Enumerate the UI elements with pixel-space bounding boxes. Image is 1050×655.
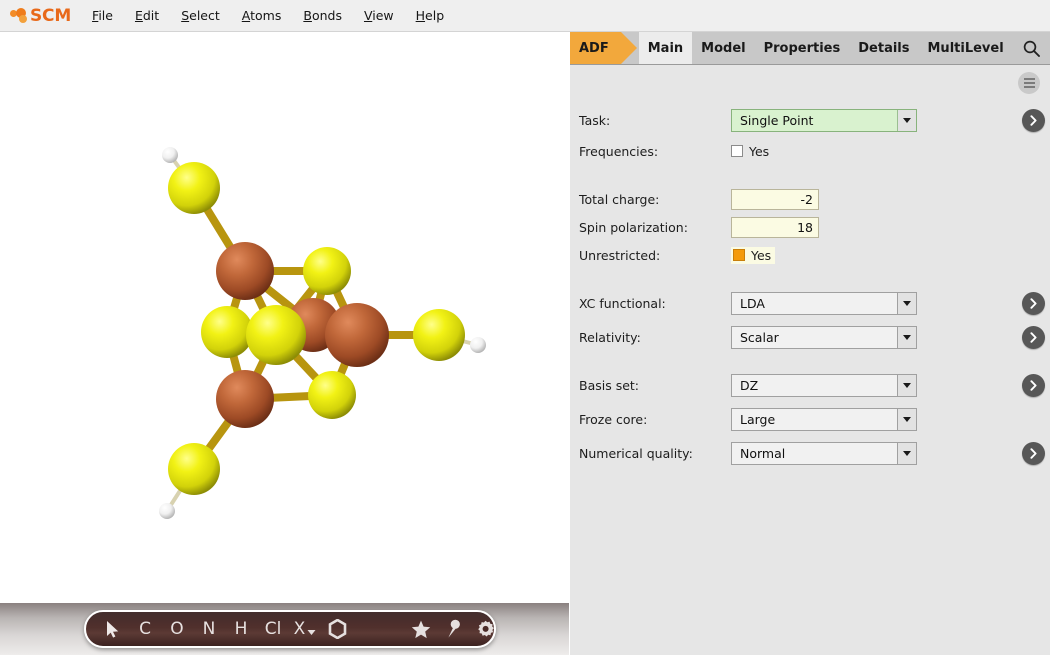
frequencies-label: Frequencies: <box>579 144 731 159</box>
spin-polarization-input[interactable]: 18 <box>731 217 819 238</box>
gear-icon <box>476 620 495 639</box>
atom-fe[interactable] <box>216 242 274 300</box>
basis-set-dropdown-arrow[interactable] <box>897 375 916 396</box>
search-button[interactable] <box>1013 32 1050 65</box>
scm-logo[interactable]: SCM <box>0 0 81 32</box>
scm-logo-text: SCM <box>30 6 71 26</box>
row-spin-polarization: Spin polarization: 18 <box>570 214 1050 240</box>
frequencies-checkbox-label: Yes <box>749 144 769 159</box>
spin-polarization-field: 18 <box>731 217 819 238</box>
numerical-quality-field: Normal <box>731 442 917 465</box>
unrestricted-checkbox-label: Yes <box>751 248 771 263</box>
row-xc-functional: XC functional: LDA <box>570 290 1050 316</box>
toolbar-spacer <box>356 614 402 644</box>
caret-down-icon <box>903 417 911 422</box>
molecule-viewer[interactable] <box>0 32 569 655</box>
task-label: Task: <box>579 113 731 128</box>
froze-core-value: Large <box>732 409 897 430</box>
oxygen-tool[interactable]: O <box>164 614 190 644</box>
menu-item-help[interactable]: Help <box>405 4 456 27</box>
tab-multilevel[interactable]: MultiLevel <box>919 32 1013 65</box>
other-element-tool-label: X <box>294 619 306 639</box>
chevron-right-icon <box>1028 115 1039 126</box>
numerical-quality-value: Normal <box>732 443 897 464</box>
caret-down-icon <box>903 383 911 388</box>
xc-functional-dropdown-arrow[interactable] <box>897 293 916 314</box>
relativity-dropdown[interactable]: Scalar <box>731 326 917 349</box>
unrestricted-label: Unrestricted: <box>579 248 731 263</box>
caret-down-icon <box>903 451 911 456</box>
row-task: Task: Single Point <box>570 107 1050 133</box>
total-charge-label: Total charge: <box>579 192 731 207</box>
nitrogen-tool-label: N <box>203 619 216 639</box>
row-total-charge: Total charge: -2 <box>570 186 1050 212</box>
menu-bar: SCM File Edit Select Atoms Bonds View He… <box>0 0 1050 32</box>
row-numerical-quality: Numerical quality: Normal <box>570 440 1050 466</box>
menu-item-bonds[interactable]: Bonds <box>292 4 353 27</box>
hydrogen-tool[interactable]: H <box>228 614 254 644</box>
total-charge-value: -2 <box>801 192 813 207</box>
xc-functional-label: XC functional: <box>579 296 731 311</box>
tab-properties[interactable]: Properties <box>755 32 850 65</box>
xc-functional-field: LDA <box>731 292 917 315</box>
chevron-right-icon <box>1028 332 1039 343</box>
scm-logo-icon <box>10 8 29 24</box>
froze-core-dropdown[interactable]: Large <box>731 408 917 431</box>
pin-icon <box>446 619 461 639</box>
row-unrestricted: Unrestricted: Yes <box>570 242 1050 268</box>
froze-core-dropdown-arrow[interactable] <box>897 409 916 430</box>
spin-polarization-label: Spin polarization: <box>579 220 731 235</box>
xc-functional-value: LDA <box>732 293 897 314</box>
ring-tool[interactable] <box>324 614 350 644</box>
task-value: Single Point <box>732 110 897 131</box>
adfinput-window: SCM File Edit Select Atoms Bonds View He… <box>0 0 1050 655</box>
basis-set-label: Basis set: <box>579 378 731 393</box>
frequencies-checkbox[interactable] <box>731 145 743 157</box>
menu-item-file[interactable]: File <box>81 4 124 27</box>
caret-down-icon <box>903 335 911 340</box>
numerical-quality-dropdown-arrow[interactable] <box>897 443 916 464</box>
tab-main[interactable]: Main <box>639 32 692 65</box>
star-icon <box>411 620 431 639</box>
menu-item-select[interactable]: Select <box>170 4 231 27</box>
atom-s[interactable] <box>303 247 351 295</box>
numerical-quality-label: Numerical quality: <box>579 446 731 461</box>
chevron-right-icon <box>1028 448 1039 459</box>
froze-core-label: Froze core: <box>579 412 731 427</box>
preferences-tool[interactable] <box>472 614 496 644</box>
xc-functional-go-button[interactable] <box>1022 292 1045 315</box>
pin-tool[interactable] <box>440 614 466 644</box>
unrestricted-field: Yes <box>731 247 775 264</box>
unrestricted-checkbox[interactable] <box>733 249 745 261</box>
task-go-button[interactable] <box>1022 109 1045 132</box>
atom-s[interactable] <box>168 162 220 214</box>
unrestricted-checkbox-row[interactable]: Yes <box>731 247 775 264</box>
relativity-field: Scalar <box>731 326 917 349</box>
nitrogen-tool[interactable]: N <box>196 614 222 644</box>
caret-down-icon <box>903 301 911 306</box>
oxygen-tool-label: O <box>170 619 183 639</box>
spin-polarization-value: 18 <box>797 220 813 235</box>
row-froze-core: Froze core: Large <box>570 406 1050 432</box>
row-frequencies: Frequencies: Yes <box>570 138 1050 164</box>
atom-h[interactable] <box>162 147 178 163</box>
froze-core-field: Large <box>731 408 917 431</box>
menu-item-atoms[interactable]: Atoms <box>231 4 293 27</box>
chlorine-tool-label: Cl <box>265 619 282 639</box>
frequencies-field: Yes <box>731 144 769 159</box>
frequencies-checkbox-row[interactable]: Yes <box>731 144 769 159</box>
cursor-arrow-icon <box>106 621 120 638</box>
xc-functional-dropdown[interactable]: LDA <box>731 292 917 315</box>
tab-bar: ADF Main Model Properties Details MultiL… <box>570 32 1050 65</box>
atom-fe[interactable] <box>216 370 274 428</box>
hexagon-ring-icon <box>328 619 347 639</box>
numerical-quality-dropdown[interactable]: Normal <box>731 442 917 465</box>
atom-layer <box>159 147 486 519</box>
chevron-right-icon <box>1028 298 1039 309</box>
menu-item-edit[interactable]: Edit <box>124 4 170 27</box>
molecule-render[interactable] <box>0 32 569 655</box>
menu-item-view[interactable]: View <box>353 4 405 27</box>
tab-model-label: Model <box>701 41 745 56</box>
select-arrow-tool[interactable] <box>100 614 126 644</box>
relativity-go-button[interactable] <box>1022 326 1045 349</box>
other-element-tool[interactable]: X <box>292 614 318 644</box>
basis-set-go-button[interactable] <box>1022 374 1045 397</box>
atom-s[interactable] <box>246 305 306 365</box>
tab-details[interactable]: Details <box>849 32 918 65</box>
atom-s[interactable] <box>201 306 253 358</box>
atom-fe[interactable] <box>325 303 389 367</box>
tab-main-label: Main <box>648 41 683 56</box>
relativity-label: Relativity: <box>579 330 731 345</box>
drawing-toolbar[interactable]: C O N H Cl X <box>84 610 496 648</box>
main-settings-form: Task: Single Point Frequ <box>570 65 1050 466</box>
tab-properties-label: Properties <box>764 41 841 56</box>
task-field: Single Point <box>731 109 917 132</box>
carbon-tool[interactable]: C <box>132 614 158 644</box>
chevron-right-icon <box>1028 380 1039 391</box>
tab-model[interactable]: Model <box>692 32 754 65</box>
basis-set-value: DZ <box>732 375 897 396</box>
relativity-value: Scalar <box>732 327 897 348</box>
chevron-down-icon <box>307 628 316 637</box>
settings-panel: ADF Main Model Properties Details MultiL… <box>570 32 1050 655</box>
atom-s[interactable] <box>308 371 356 419</box>
module-tab-adf[interactable]: ADF <box>570 32 621 65</box>
row-relativity: Relativity: Scalar <box>570 324 1050 350</box>
basis-set-field: DZ <box>731 374 917 397</box>
caret-down-icon <box>903 118 911 123</box>
tab-multilevel-label: MultiLevel <box>928 41 1004 56</box>
atom-s[interactable] <box>413 309 465 361</box>
task-dropdown-arrow[interactable] <box>897 110 916 131</box>
basis-set-dropdown[interactable]: DZ <box>731 374 917 397</box>
favorites-tool[interactable] <box>408 614 434 644</box>
tab-details-label: Details <box>858 41 909 56</box>
search-icon <box>1023 40 1040 57</box>
total-charge-input[interactable]: -2 <box>731 189 819 210</box>
row-basis-set: Basis set: DZ <box>570 372 1050 398</box>
module-tab-adf-label: ADF <box>579 41 609 56</box>
total-charge-field: -2 <box>731 189 819 210</box>
hydrogen-tool-label: H <box>235 619 248 639</box>
atom-s[interactable] <box>168 443 220 495</box>
chlorine-tool[interactable]: Cl <box>260 614 286 644</box>
numerical-quality-go-button[interactable] <box>1022 442 1045 465</box>
atom-h[interactable] <box>159 503 175 519</box>
carbon-tool-label: C <box>139 619 151 639</box>
relativity-dropdown-arrow[interactable] <box>897 327 916 348</box>
atom-h[interactable] <box>470 337 486 353</box>
task-dropdown[interactable]: Single Point <box>731 109 917 132</box>
